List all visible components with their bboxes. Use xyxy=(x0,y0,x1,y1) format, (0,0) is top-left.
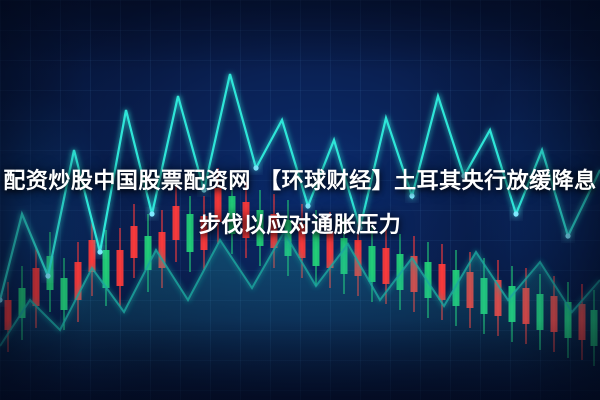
headline-text: 配资炒股中国股票配资网 【环球财经】土耳其央行放缓降息步伐以应对通胀压力 xyxy=(0,160,600,248)
stock-market-banner-image: 配资炒股中国股票配资网 【环球财经】土耳其央行放缓降息步伐以应对通胀压力 xyxy=(0,0,600,400)
